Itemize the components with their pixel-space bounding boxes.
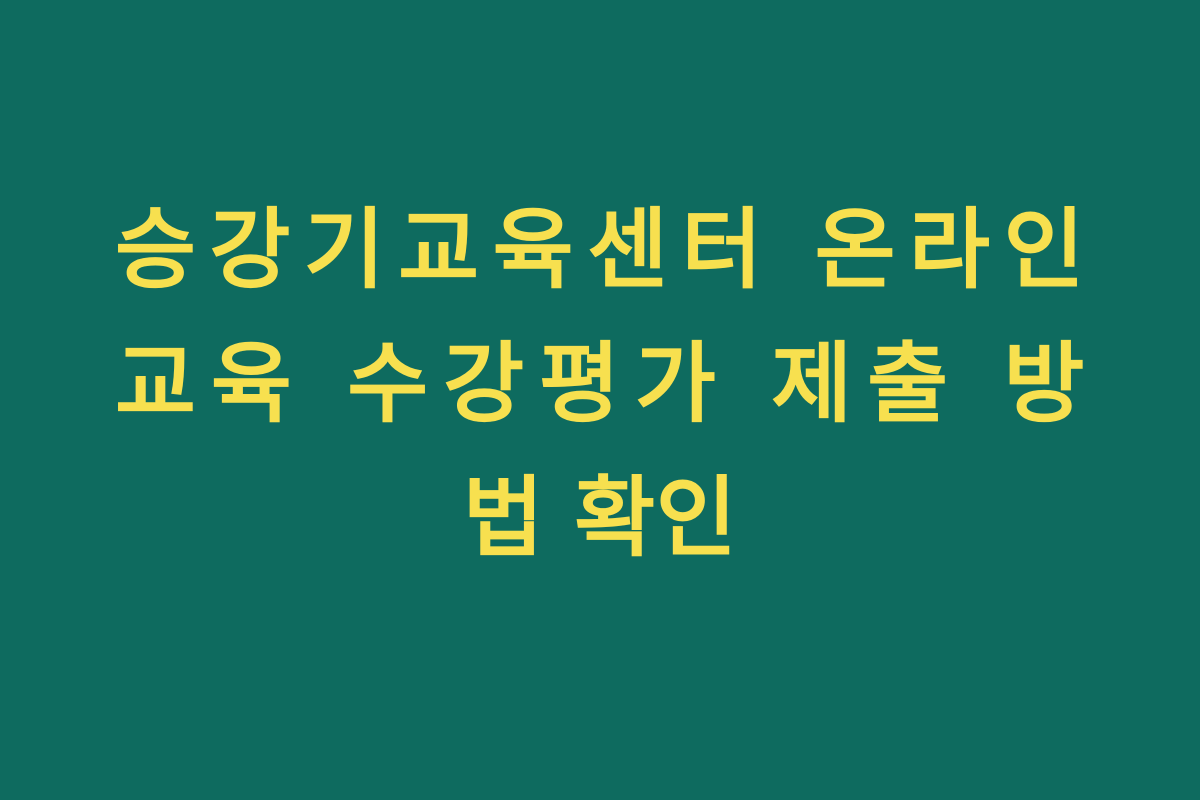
title-glyph: 교 — [115, 317, 196, 451]
title-glyph: 기 — [304, 183, 385, 317]
title-glyph: 육 — [211, 317, 292, 451]
title-glyph: 육 — [493, 183, 574, 317]
page-title: 승강기교육센터 온라인 교육 수강평가 제출 방 법 확인 — [110, 183, 1090, 585]
title-glyph: 온 — [815, 183, 896, 317]
title-glyph: 강 — [443, 317, 524, 451]
title-glyph: 출 — [867, 317, 948, 451]
title-line-3: 법 확인 — [110, 451, 1090, 585]
title-glyph: 확 — [574, 451, 655, 585]
title-line-1: 승강기교육센터 온라인 — [115, 183, 1085, 317]
title-glyph: 교 — [398, 183, 479, 317]
title-glyph: 가 — [635, 317, 716, 451]
title-glyph: 라 — [909, 183, 990, 317]
title-glyph: 인 — [656, 451, 737, 585]
title-glyph — [963, 317, 989, 451]
title-glyph: 승 — [115, 183, 196, 317]
banner-canvas: 승강기교육센터 온라인 교육 수강평가 제출 방 법 확인 승강기교육센터 온라… — [0, 0, 1200, 800]
title-glyph — [544, 451, 574, 585]
title-glyph: 평 — [539, 317, 620, 451]
title-glyph: 터 — [681, 183, 762, 317]
title-glyph: 제 — [771, 317, 852, 451]
title-glyph: 방 — [1003, 317, 1084, 451]
title-glyph — [776, 183, 802, 317]
title-glyph: 강 — [209, 183, 290, 317]
title-glyph: 수 — [347, 317, 428, 451]
title-line-2: 교육 수강평가 제출 방 — [115, 317, 1085, 451]
title-glyph — [307, 317, 333, 451]
title-glyph: 인 — [1003, 183, 1084, 317]
title-glyph: 법 — [463, 451, 544, 585]
title-glyph: 센 — [587, 183, 668, 317]
title-glyph — [731, 317, 757, 451]
